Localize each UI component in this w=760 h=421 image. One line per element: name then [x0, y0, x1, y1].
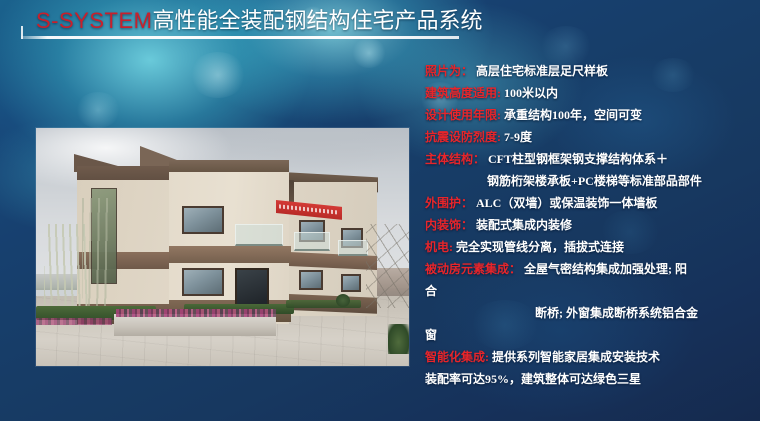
spec-value: 装配率可达95%，建筑整体可达绿色三星 — [425, 372, 641, 386]
spec-label: 建筑高度适用: — [425, 86, 501, 100]
title-underline — [21, 36, 459, 39]
photo-bamboo-left-2 — [82, 198, 112, 308]
spec-row: 机电: 完全实现管线分离，插拔式连接 — [425, 236, 755, 258]
spec-value: 100米以内 — [504, 86, 558, 100]
spec-value: 7-9度 — [504, 130, 532, 144]
spec-row: 智能化集成: 提供系列智能家居集成安装技术 — [425, 346, 755, 368]
photo-window-upper-left — [182, 206, 224, 234]
photo-shrub-right — [388, 324, 409, 354]
photo-window-lower-left — [182, 268, 224, 296]
bokeh-light-4 — [190, 52, 246, 98]
spec-label: 外围护： — [425, 196, 473, 210]
building-photo — [36, 128, 409, 366]
spec-row: 被动房元素集成： 全屋气密结构集成加强处理; 阳 — [425, 258, 755, 280]
photo-balcony-rail-1 — [235, 224, 283, 246]
spec-value: 装配式集成内装修 — [476, 218, 572, 232]
spec-value: 全屋气密结构集成加强处理; 阳 — [524, 262, 687, 276]
slide-header: S-SYSTEM高性能全装配钢结构住宅产品系统 — [0, 0, 760, 46]
spec-value: 窗 — [425, 328, 437, 342]
spec-row: 设计使用年限: 承重结构100年，空间可变 — [425, 104, 755, 126]
spec-label: 内装饰： — [425, 218, 473, 232]
spec-row: 建筑高度适用: 100米以内 — [425, 82, 755, 104]
spec-row-continuation: 钢筋桁架楼承板+PC楼梯等标准部品部件 — [425, 170, 755, 192]
spec-value: 提供系列智能家居集成安装技术 — [492, 350, 660, 364]
spec-value: 高层住宅标准层足尺样板 — [476, 64, 608, 78]
spec-value: 承重结构100年，空间可变 — [504, 108, 642, 122]
spec-row: 内装饰： 装配式集成内装修 — [425, 214, 755, 236]
spec-value: ALC（双墙）或保温装饰一体墙板 — [476, 196, 657, 210]
spec-row: 主体结构： CFT柱型钢框架钢支撑结构体系＋ — [425, 148, 755, 170]
photo-band-mid-front — [169, 246, 291, 263]
bokeh-light-5 — [76, 92, 120, 128]
spec-row: 照片为： 高层住宅标准层足尺样板 — [425, 60, 755, 82]
photo-planter-wall — [114, 314, 276, 336]
spec-row: 抗震设防烈度: 7-9度 — [425, 126, 755, 148]
photo-shrub-right-small — [336, 294, 350, 307]
spec-label: 抗震设防烈度: — [425, 130, 501, 144]
photo-flower-bed — [116, 309, 276, 317]
slide-canvas: S-SYSTEM高性能全装配钢结构住宅产品系统 — [0, 0, 760, 421]
spec-label: 照片为： — [425, 64, 473, 78]
photo-window-lower-right-a — [299, 270, 323, 290]
spec-row: 外围护： ALC（双墙）或保温装饰一体墙板 — [425, 192, 755, 214]
spec-value: 断桥; 外窗集成断桥系统铝合金 — [535, 306, 698, 320]
spec-label: 智能化集成: — [425, 350, 489, 364]
spec-value: 完全实现管线分离，插拔式连接 — [456, 240, 624, 254]
spec-list: 照片为： 高层住宅标准层足尺样板 建筑高度适用: 100米以内 设计使用年限: … — [425, 60, 755, 390]
spec-label: 机电: — [425, 240, 453, 254]
spec-row-continuation: 断桥; 外窗集成断桥系统铝合金 — [425, 302, 755, 324]
spec-row-wrap: 窗 — [425, 324, 755, 346]
spec-row-wrap: 合 — [425, 280, 755, 302]
spec-value: CFT柱型钢框架钢支撑结构体系＋ — [488, 152, 668, 166]
title-brand: S-SYSTEM — [36, 8, 152, 33]
title-subtitle: 高性能全装配钢结构住宅产品系统 — [152, 8, 482, 33]
photo-balcony-rail-3 — [338, 240, 368, 256]
spec-value: 合 — [425, 284, 437, 298]
spec-label: 主体结构： — [425, 152, 485, 166]
spec-label: 被动房元素集成： — [425, 262, 521, 276]
photo-window-lower-right-b — [341, 274, 361, 292]
spec-label: 设计使用年限: — [425, 108, 501, 122]
photo-balcony-rail-2 — [294, 232, 330, 251]
photo-flower-bed-left — [36, 318, 112, 325]
photo-bare-tree-right — [366, 224, 409, 308]
spec-row-summary: 装配率可达95%，建筑整体可达绿色三星 — [425, 368, 755, 390]
page-title: S-SYSTEM高性能全装配钢结构住宅产品系统 — [36, 8, 482, 34]
spec-value: 钢筋桁架楼承板+PC楼梯等标准部品部件 — [487, 174, 702, 188]
